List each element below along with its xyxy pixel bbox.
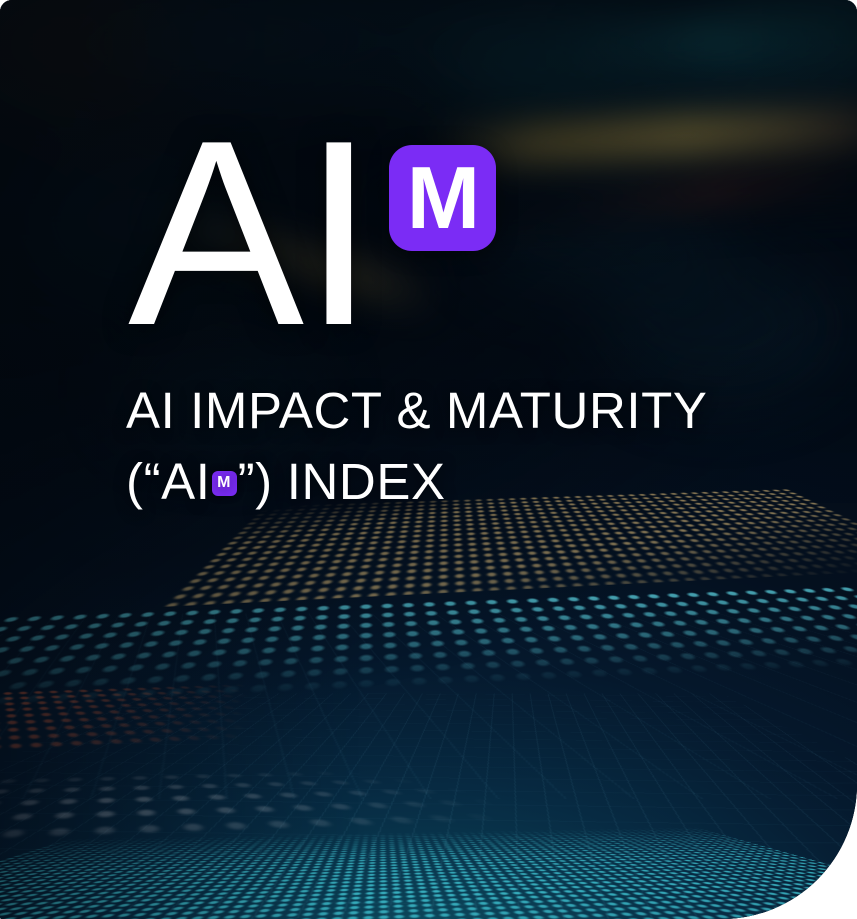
page-title-line-2-suffix: ”) [238, 453, 273, 510]
logo-m-badge-letter: M [407, 154, 479, 242]
page-title: AI IMPACT & MATURITY (“AIM”)INDEX [126, 375, 708, 518]
logo-wordmark-ai: AI [128, 133, 373, 334]
page-title-line-2-prefix: (“AI [126, 453, 211, 510]
subtitle-m-badge-letter: M [217, 475, 231, 491]
logo-m-badge: M [389, 145, 496, 251]
cover-content: AI M AI IMPACT & MATURITY (“AIM”)INDEX [0, 0, 857, 919]
page-title-line-1: AI IMPACT & MATURITY [126, 375, 708, 446]
cover-card: AI M AI IMPACT & MATURITY (“AIM”)INDEX [0, 0, 857, 919]
page-title-line-2-word: INDEX [287, 453, 446, 510]
page-title-line-2: (“AIM”)INDEX [126, 446, 708, 517]
aim-logo: AI M [128, 133, 496, 334]
subtitle-m-badge: M [212, 471, 237, 496]
